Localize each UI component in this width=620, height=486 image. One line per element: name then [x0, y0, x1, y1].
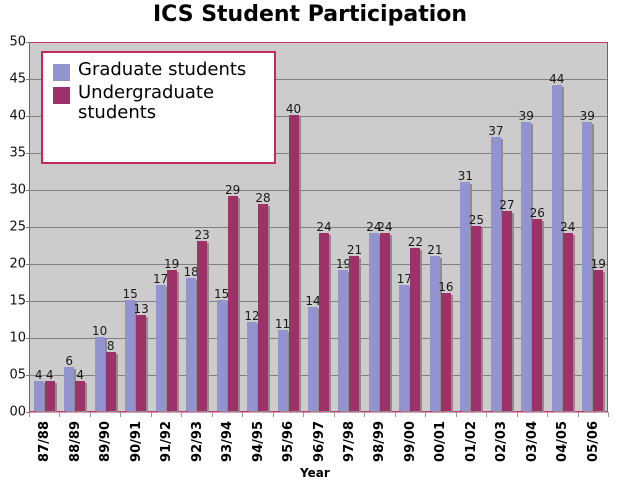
bar-graduate-93-94[interactable]	[217, 300, 227, 411]
bar-undergraduate-96-97[interactable]	[319, 233, 329, 411]
chart-title: ICS Student Participation	[0, 2, 620, 27]
bar-body	[197, 241, 207, 411]
x-axis-tick-label-90-91: 90/91	[129, 421, 144, 462]
x-axis-tick-mark	[29, 412, 30, 417]
x-axis-tick-mark	[59, 412, 60, 417]
y-axis-labels: 0005101520253035404550	[0, 42, 26, 412]
bar-body	[45, 381, 55, 411]
bar-undergraduate-99-00[interactable]	[410, 248, 420, 411]
bar-value-label: 39	[515, 110, 537, 122]
bar-value-label: 44	[546, 73, 568, 85]
x-axis-tick-mark	[395, 412, 396, 417]
x-axis-tick-label-87-88: 87/88	[37, 421, 52, 462]
legend-label-undergraduate: Undergraduate students	[78, 83, 266, 123]
bar-body	[125, 300, 135, 411]
bar-value-label: 21	[424, 244, 446, 256]
bar-graduate-96-97[interactable]	[308, 307, 318, 411]
bar-body	[532, 219, 542, 411]
x-axis-tick-mark	[547, 412, 548, 417]
bar-undergraduate-03-04[interactable]	[532, 219, 542, 411]
legend-label-graduate: Graduate students	[78, 60, 246, 80]
bar-value-label: 21	[343, 244, 365, 256]
x-axis-tick-label-91-92: 91/92	[159, 421, 174, 462]
bar-undergraduate-05-06[interactable]	[593, 270, 603, 411]
bar-value-label: 24	[313, 221, 335, 233]
bar-undergraduate-93-94[interactable]	[228, 196, 238, 411]
x-axis-tick-mark	[181, 412, 182, 417]
bar-value-label: 25	[465, 214, 487, 226]
bar-value-label: 23	[191, 229, 213, 241]
bar-body	[75, 381, 85, 411]
y-axis-tick-mark	[26, 264, 30, 265]
bar-undergraduate-02-03[interactable]	[502, 211, 512, 411]
y-axis-tick-mark	[26, 301, 30, 302]
bar-graduate-87-88[interactable]	[34, 381, 44, 411]
bar-body	[430, 256, 440, 411]
bar-body	[338, 270, 348, 411]
x-axis-title: Year	[0, 466, 620, 480]
bar-undergraduate-88-89[interactable]	[75, 381, 85, 411]
bar-value-label: 28	[252, 192, 274, 204]
bar-graduate-92-93[interactable]	[186, 278, 196, 411]
bar-graduate-03-04[interactable]	[521, 122, 531, 411]
bar-undergraduate-95-96[interactable]	[289, 115, 299, 411]
y-axis-tick-mark	[26, 153, 30, 154]
bar-value-label: 6	[58, 355, 80, 367]
bar-body	[217, 300, 227, 411]
bar-graduate-95-96[interactable]	[278, 330, 288, 411]
x-axis-tick-mark	[425, 412, 426, 417]
bar-body	[349, 256, 359, 411]
y-axis-tick-mark	[26, 375, 30, 376]
x-axis-tick-label-96-97: 96/97	[312, 421, 327, 462]
x-axis-tick-label-92-93: 92/93	[190, 421, 205, 462]
bar-graduate-94-95[interactable]	[247, 322, 257, 411]
bar-value-label: 15	[119, 288, 141, 300]
y-axis-tick-label: 45	[0, 73, 26, 86]
bar-undergraduate-92-93[interactable]	[197, 241, 207, 411]
bar-body	[521, 122, 531, 411]
bar-body	[308, 307, 318, 411]
y-axis-tick-label: 50	[0, 36, 26, 49]
bar-body	[289, 115, 299, 411]
y-axis-tick-label: 25	[0, 221, 26, 234]
bar-value-label: 4	[69, 369, 91, 381]
y-axis-tick-label: 40	[0, 110, 26, 123]
bar-value-label: 24	[557, 221, 579, 233]
x-axis-tick-mark	[120, 412, 121, 417]
bar-undergraduate-91-92[interactable]	[167, 270, 177, 411]
bar-value-label: 29	[222, 184, 244, 196]
y-axis-tick-label: 15	[0, 295, 26, 308]
x-axis-tick-label-04-05: 04/05	[555, 421, 570, 462]
y-axis-tick-mark	[26, 338, 30, 339]
bar-graduate-04-05[interactable]	[552, 85, 562, 411]
bar-undergraduate-87-88[interactable]	[45, 381, 55, 411]
bar-undergraduate-00-01[interactable]	[441, 293, 451, 411]
bar-body	[410, 248, 420, 411]
x-axis-tick-label-97-98: 97/98	[342, 421, 357, 462]
legend-swatch-graduate-icon	[53, 64, 70, 81]
bar-undergraduate-90-91[interactable]	[136, 315, 146, 411]
x-axis-tick-label-95-96: 95/96	[281, 421, 296, 462]
y-axis-tick-label: 30	[0, 184, 26, 197]
bar-value-label: 31	[454, 170, 476, 182]
bar-body	[399, 285, 409, 411]
bar-value-label: 8	[100, 340, 122, 352]
x-axis-tick-mark	[151, 412, 152, 417]
bar-body	[228, 196, 238, 411]
bar-value-label: 10	[89, 325, 111, 337]
bar-value-label: 27	[496, 199, 518, 211]
bar-body	[247, 322, 257, 411]
x-axis-tick-mark	[212, 412, 213, 417]
bar-body	[552, 85, 562, 411]
bar-undergraduate-89-90[interactable]	[106, 352, 116, 411]
y-axis-tick-mark	[26, 42, 30, 43]
bar-body	[106, 352, 116, 411]
y-axis-tick-mark	[26, 190, 30, 191]
y-axis-tick-label: 20	[0, 258, 26, 271]
bar-body	[258, 204, 268, 411]
bar-value-label: 37	[485, 125, 507, 137]
bar-graduate-99-00[interactable]	[399, 285, 409, 411]
legend-item-undergraduate[interactable]: Undergraduate students	[53, 83, 266, 123]
bar-value-label: 26	[526, 207, 548, 219]
bar-body	[563, 233, 573, 411]
bar-body	[156, 285, 166, 411]
bar-body	[136, 315, 146, 411]
bar-value-label: 13	[130, 303, 152, 315]
bar-body	[491, 137, 501, 411]
x-axis-tick-label-89-90: 89/90	[98, 421, 113, 462]
bar-body	[167, 270, 177, 411]
x-axis-tick-label-05-06: 05/06	[586, 421, 601, 462]
x-axis-tick-mark	[334, 412, 335, 417]
bar-body	[380, 233, 390, 411]
bar-value-label: 16	[435, 281, 457, 293]
bar-body	[593, 270, 603, 411]
bar-value-label: 4	[39, 369, 61, 381]
x-axis-tick-mark	[90, 412, 91, 417]
bar-body	[319, 233, 329, 411]
bar-body	[186, 278, 196, 411]
chart-legend: Graduate students Undergraduate students	[41, 51, 276, 164]
bar-undergraduate-98-99[interactable]	[380, 233, 390, 411]
y-axis-tick-label: 00	[0, 406, 26, 419]
bar-value-label: 19	[587, 258, 609, 270]
x-axis-tick-mark	[517, 412, 518, 417]
x-axis-tick-mark	[608, 412, 609, 417]
x-axis-tick-mark	[364, 412, 365, 417]
bar-undergraduate-01-02[interactable]	[471, 226, 481, 411]
x-axis-tick-label-88-89: 88/89	[68, 421, 83, 462]
bar-value-label: 24	[374, 221, 396, 233]
x-axis-tick-mark	[303, 412, 304, 417]
x-axis-line	[29, 412, 608, 413]
x-axis-tick-mark	[273, 412, 274, 417]
y-axis-tick-mark	[26, 116, 30, 117]
bar-body	[34, 381, 44, 411]
x-axis-tick-mark	[242, 412, 243, 417]
bar-graduate-90-91[interactable]	[125, 300, 135, 411]
bar-graduate-91-92[interactable]	[156, 285, 166, 411]
x-axis-tick-label-01-02: 01/02	[464, 421, 479, 462]
legend-item-graduate[interactable]: Graduate students	[53, 60, 266, 81]
x-axis-tick-label-03-04: 03/04	[525, 421, 540, 462]
y-axis-tick-label: 10	[0, 332, 26, 345]
x-axis-tick-mark	[456, 412, 457, 417]
x-axis-tick-label-00-01: 00/01	[433, 421, 448, 462]
x-axis-tick-label-94-95: 94/95	[251, 421, 266, 462]
x-axis-tick-mark	[578, 412, 579, 417]
x-axis-tick-label-99-00: 99/00	[403, 421, 418, 462]
bar-undergraduate-94-95[interactable]	[258, 204, 268, 411]
bar-body	[471, 226, 481, 411]
bar-graduate-98-99[interactable]	[369, 233, 379, 411]
bar-body	[278, 330, 288, 411]
x-axis-tick-label-02-03: 02/03	[494, 421, 509, 462]
bar-body	[369, 233, 379, 411]
bar-graduate-02-03[interactable]	[491, 137, 501, 411]
legend-swatch-undergraduate-icon	[53, 87, 70, 104]
x-axis-tick-label-98-99: 98/99	[372, 421, 387, 462]
gridline	[30, 42, 607, 43]
y-axis-tick-label: 35	[0, 147, 26, 160]
x-axis-tick-mark	[486, 412, 487, 417]
bar-graduate-00-01[interactable]	[430, 256, 440, 411]
bar-undergraduate-97-98[interactable]	[349, 256, 359, 411]
bar-body	[441, 293, 451, 411]
bar-undergraduate-04-05[interactable]	[563, 233, 573, 411]
bar-value-label: 39	[576, 110, 598, 122]
y-axis-tick-mark	[26, 79, 30, 80]
bar-body	[502, 211, 512, 411]
y-axis-tick-label: 05	[0, 369, 26, 382]
y-axis-tick-mark	[26, 227, 30, 228]
bar-value-label: 40	[283, 103, 305, 115]
bar-graduate-97-98[interactable]	[338, 270, 348, 411]
x-axis-tick-label-93-94: 93/94	[220, 421, 235, 462]
